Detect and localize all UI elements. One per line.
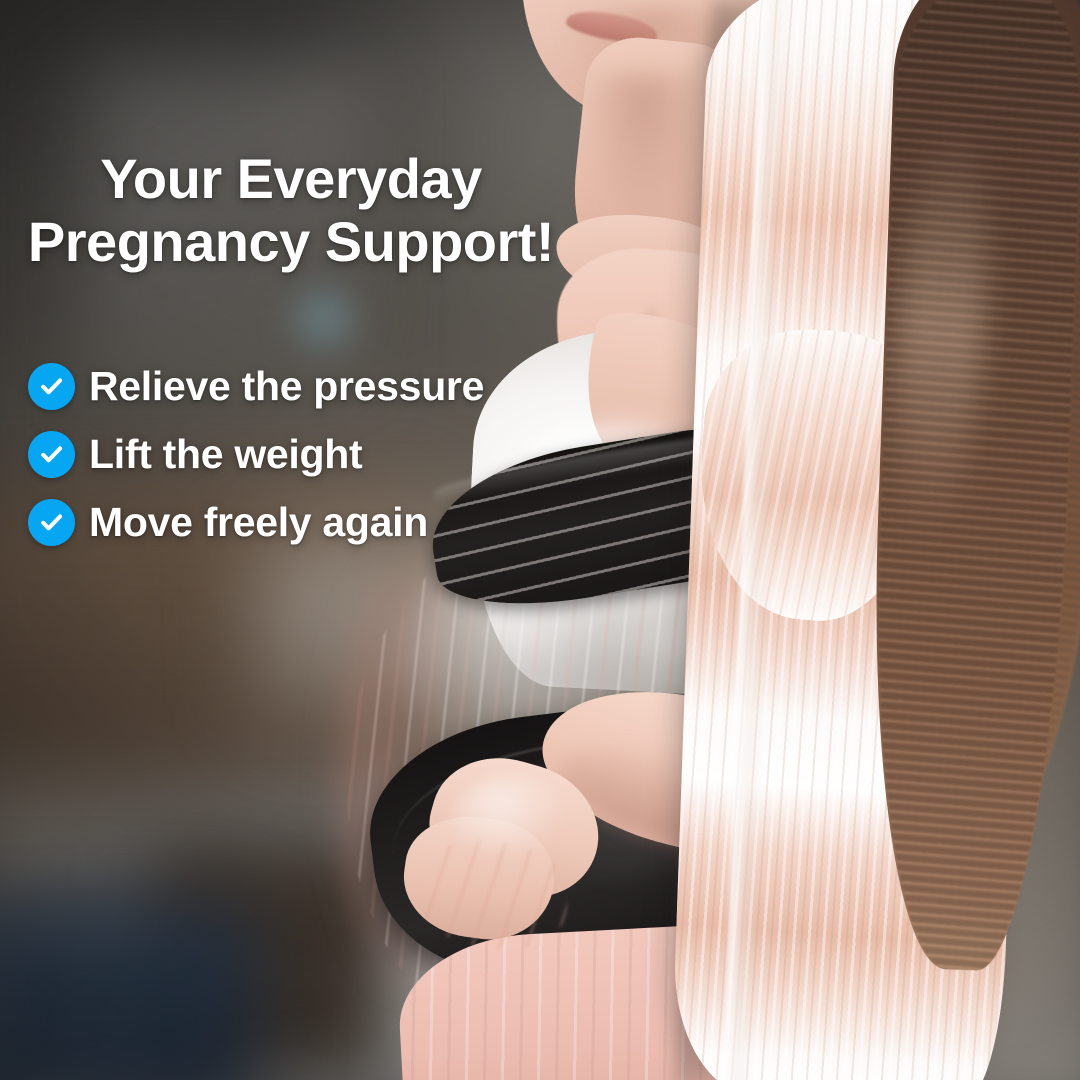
check-circle-icon xyxy=(28,363,75,410)
check-circle-icon xyxy=(28,431,75,478)
benefit-label: Move freely again xyxy=(89,502,428,543)
check-circle-icon xyxy=(28,499,75,546)
benefit-item-move-freely: Move freely again xyxy=(28,488,588,556)
benefits-list: Relieve the pressure Lift the weight Mov… xyxy=(28,352,588,556)
text-overlay: Your Everyday Pregnancy Support! Relieve… xyxy=(0,0,1080,1080)
ad-canvas: Your Everyday Pregnancy Support! Relieve… xyxy=(0,0,1080,1080)
benefit-item-relieve-pressure: Relieve the pressure xyxy=(28,352,588,420)
headline: Your Everyday Pregnancy Support! xyxy=(0,148,582,273)
benefit-label: Lift the weight xyxy=(89,434,362,475)
benefit-item-lift-weight: Lift the weight xyxy=(28,420,588,488)
benefit-label: Relieve the pressure xyxy=(89,366,484,407)
